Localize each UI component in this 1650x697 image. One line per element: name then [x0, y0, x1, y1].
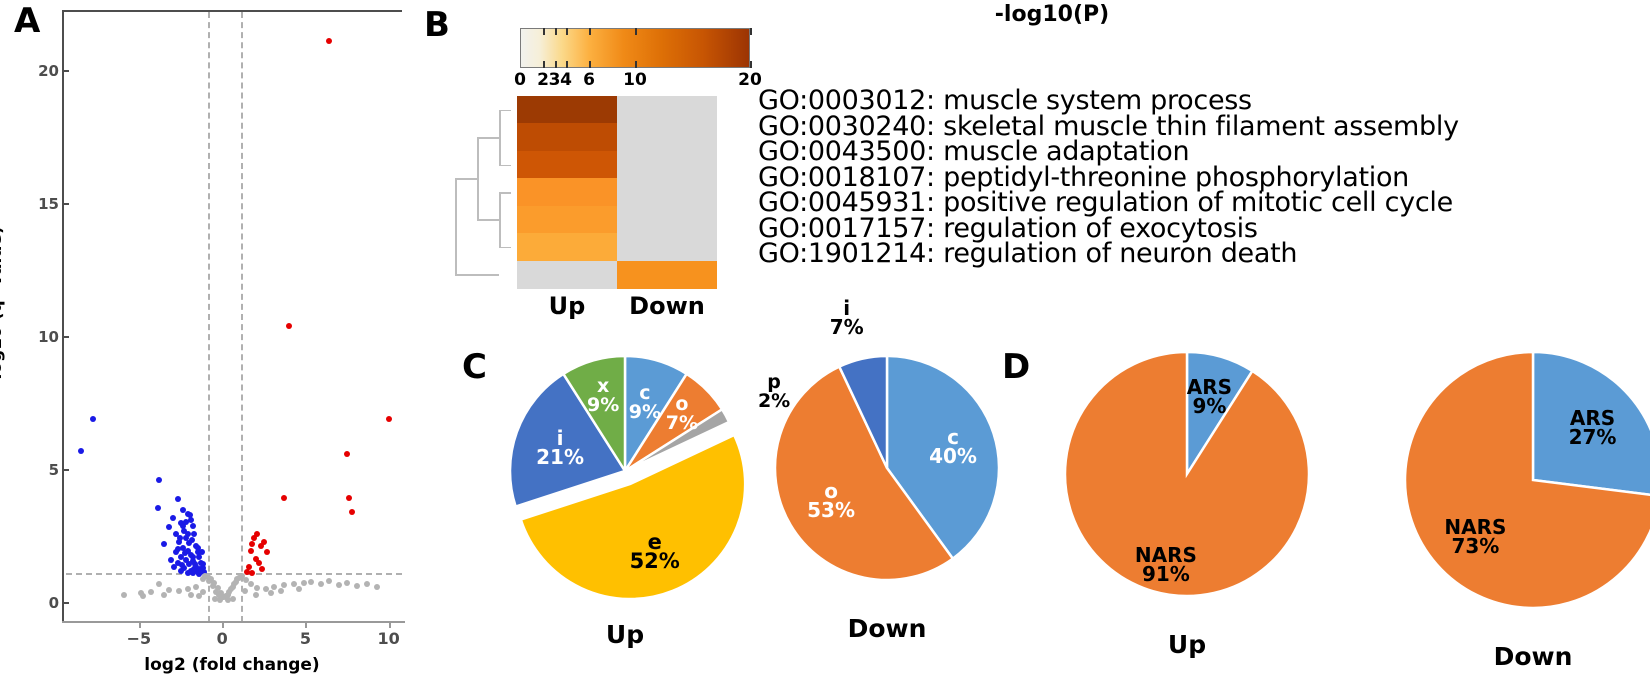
- heatmap-cell: [517, 123, 617, 151]
- volcano-point: [200, 589, 206, 595]
- volcano-point: [251, 535, 257, 541]
- volcano-point: [253, 592, 259, 598]
- volcano-point: [364, 581, 370, 587]
- dendrogram-branch: [477, 137, 479, 219]
- heatmap-cell: [617, 123, 717, 151]
- heatmap-cell: [617, 151, 717, 179]
- colorbar-tick-mark: [555, 61, 557, 68]
- colorbar-tick-label: 0: [514, 70, 526, 90]
- go-term-list: GO:0003012: muscle system processGO:0030…: [758, 88, 1648, 267]
- panel-a-letter: A: [14, 4, 40, 38]
- heatmap-cell: [517, 206, 617, 234]
- volcano-y-tick-label: 5: [49, 461, 59, 479]
- heatmap-cell: [517, 233, 617, 261]
- colorbar-tick-mark: [635, 28, 637, 35]
- dendrogram-branch: [477, 137, 499, 139]
- colorbar-tick-mark: [543, 28, 545, 35]
- volcano-point: [189, 537, 195, 543]
- pie-caption: Down: [848, 614, 927, 643]
- pie-label: ARS27%: [1569, 409, 1617, 447]
- volcano-fc-threshold-line: [241, 12, 243, 622]
- volcano-y-tick-mark: [64, 602, 69, 604]
- volcano-point: [226, 589, 232, 595]
- panel-b-letter: B: [424, 8, 450, 42]
- volcano-x-tick-mark: [389, 621, 391, 628]
- volcano-x-tick-mark: [305, 621, 307, 628]
- volcano-y-tick-label: 20: [38, 62, 59, 80]
- volcano-point: [217, 597, 223, 603]
- pie-slice-percent: 9%: [587, 394, 619, 416]
- pie-caption: Up: [1168, 630, 1206, 659]
- pie-label: c40%: [929, 428, 977, 466]
- pie-svg: [1375, 348, 1650, 624]
- volcano-point: [249, 570, 255, 576]
- volcano-point: [286, 323, 292, 329]
- volcano-y-tick-label: 0: [49, 594, 59, 612]
- volcano-y-tick-mark: [64, 203, 69, 205]
- volcano-x-tick-label: −5: [127, 629, 152, 648]
- colorbar-title: -log10(P): [995, 2, 1109, 27]
- volcano-point: [166, 587, 172, 593]
- volcano-point: [301, 580, 307, 586]
- heatmap-cell: [617, 178, 717, 206]
- colorbar-tick-mark: [543, 61, 545, 68]
- volcano-point: [200, 576, 206, 582]
- colorbar-tick-mark: [750, 28, 752, 35]
- pie-label: i21%: [536, 429, 584, 467]
- volcano-point: [256, 560, 262, 566]
- volcano-point: [199, 549, 205, 555]
- volcano-point: [225, 597, 231, 603]
- volcano-x-tick-label: 5: [300, 629, 311, 648]
- volcano-point: [349, 509, 355, 515]
- colorbar-tick-mark: [589, 61, 591, 68]
- pie-slice-percent: 91%: [1142, 562, 1190, 586]
- volcano-point: [258, 543, 264, 549]
- volcano-x-tick-label: 0: [217, 629, 228, 648]
- dendrogram-branch: [455, 178, 477, 180]
- volcano-point: [248, 548, 254, 554]
- volcano-point: [188, 592, 194, 598]
- volcano-x-axis-label: log2 (fold change): [144, 655, 319, 675]
- dendrogram-branch: [499, 192, 511, 194]
- pie-label: NARS73%: [1444, 518, 1506, 556]
- volcano-point: [166, 524, 172, 530]
- volcano-point: [278, 588, 284, 594]
- pie-slice-percent: 40%: [929, 444, 977, 468]
- heatmap-cell: [617, 96, 717, 124]
- volcano-point: [190, 523, 196, 529]
- volcano-plot-frame: 05101520: [62, 10, 402, 622]
- dendrogram-branch: [499, 192, 501, 247]
- pie-slice-percent: 7%: [830, 315, 864, 339]
- volcano-x-tick-mark: [222, 621, 224, 628]
- pie-label: c9%: [629, 384, 661, 422]
- pie-label: ARS9%: [1187, 378, 1232, 416]
- heatmap-cell: [617, 206, 717, 234]
- volcano-point: [190, 570, 196, 576]
- volcano-x-tick-label: 10: [378, 629, 400, 648]
- volcano-point: [156, 477, 162, 483]
- go-term-label: GO:1901214: regulation of neuron death: [758, 241, 1648, 267]
- volcano-point: [175, 496, 181, 502]
- volcano-point: [281, 495, 287, 501]
- volcano-y-tick-mark: [64, 336, 69, 338]
- volcano-point: [90, 416, 96, 422]
- volcano-point: [249, 541, 255, 547]
- colorbar-tick-label: 4: [560, 70, 572, 90]
- volcano-point: [344, 580, 350, 586]
- colorbar-tick-label: 6: [583, 70, 595, 90]
- dendrogram-branch: [499, 110, 511, 112]
- volcano-point: [248, 581, 254, 587]
- colorbar-tick-label: 3: [549, 70, 561, 90]
- colorbar-tick-mark: [566, 61, 568, 68]
- volcano-point: [230, 596, 236, 602]
- pie-slice-percent: 73%: [1451, 534, 1499, 558]
- volcano-point: [326, 578, 332, 584]
- heatmap-cell: [517, 261, 617, 289]
- volcano-y-axis-label: −log10 (q−value): [0, 226, 6, 393]
- heatmap-cell: [517, 151, 617, 179]
- colorbar-tick-mark: [566, 28, 568, 35]
- heatmap-cell: [617, 261, 717, 289]
- volcano-point: [242, 588, 248, 594]
- volcano-point: [121, 592, 127, 598]
- dendrogram-branch: [499, 247, 511, 249]
- pie-label: o53%: [807, 482, 855, 520]
- volcano-point: [156, 581, 162, 587]
- volcano-x-axis-line: −50510: [62, 621, 405, 623]
- colorbar-tick-label: 10: [623, 70, 647, 90]
- volcano-point: [346, 495, 352, 501]
- go-term-label: GO:0045931: positive regulation of mitot…: [758, 190, 1648, 216]
- colorbar-tick-mark: [635, 61, 637, 68]
- volcano-point: [259, 566, 265, 572]
- volcano-point: [148, 589, 154, 595]
- volcano-y-tick-mark: [64, 70, 69, 72]
- pie-svg: [745, 352, 1029, 596]
- volcano-point: [268, 590, 274, 596]
- pie-slice-percent: 21%: [536, 445, 584, 469]
- volcano-point: [185, 531, 191, 537]
- volcano-point: [140, 593, 146, 599]
- volcano-point: [308, 579, 314, 585]
- volcano-point: [161, 541, 167, 547]
- figure-root: A 05101520 −50510 −log10 (q−value) log2 …: [0, 0, 1650, 697]
- colorbar-tick-mark: [750, 61, 752, 68]
- volcano-point: [354, 583, 360, 589]
- heatmap-cell: [517, 178, 617, 206]
- volcano-point: [386, 416, 392, 422]
- heatmap-grid: [517, 96, 717, 288]
- pie-caption: Down: [1494, 642, 1573, 671]
- dendrogram-branch: [499, 165, 511, 167]
- dendrogram-branch: [455, 274, 499, 276]
- pie-label: x9%: [587, 377, 619, 415]
- heatmap-cell: [517, 96, 617, 124]
- volcano-point: [374, 584, 380, 590]
- volcano-point: [176, 588, 182, 594]
- volcano-y-tick-mark: [64, 469, 69, 471]
- heatmap-cell: [617, 233, 717, 261]
- pie-c-down: c40%o53%i7%Down: [745, 352, 1029, 656]
- volcano-point: [271, 584, 277, 590]
- volcano-point: [318, 581, 324, 587]
- volcano-point: [296, 586, 302, 592]
- volcano-q-threshold-line: [66, 573, 402, 575]
- heatmap-column-down: Down: [629, 292, 705, 320]
- volcano-point: [78, 448, 84, 454]
- volcano-point: [336, 582, 342, 588]
- pie-caption: Up: [606, 620, 644, 649]
- pie-slice-percent: 53%: [807, 498, 855, 522]
- pie-slice-percent: 9%: [1192, 394, 1226, 418]
- volcano-point: [264, 549, 270, 555]
- volcano-point: [183, 519, 189, 525]
- dendrogram-branch: [455, 178, 457, 274]
- volcano-point: [193, 584, 199, 590]
- volcano-y-tick-label: 10: [38, 328, 59, 346]
- volcano-point: [171, 564, 177, 570]
- pie-slice-percent: 9%: [629, 401, 661, 423]
- volcano-point: [161, 592, 167, 598]
- dendrogram-branch: [499, 110, 501, 165]
- colorbar-tick-mark: [589, 28, 591, 35]
- go-term-label: GO:0043500: muscle adaptation: [758, 139, 1648, 165]
- volcano-fc-threshold-line: [208, 12, 210, 622]
- panel-a-volcano: A 05101520 −50510 −log10 (q−value) log2 …: [0, 0, 420, 697]
- heatmap-column-up: Up: [549, 292, 586, 320]
- pie-d-up: ARS9%NARS91%Up: [1035, 348, 1339, 672]
- volcano-plot-area: [66, 12, 402, 622]
- panel-d-letter: D: [1002, 350, 1030, 384]
- pie-slice-percent: 27%: [1569, 425, 1617, 449]
- panel-b-heatmap: B -log10(P) 023461020 Up Down GO:0003012…: [420, 0, 1650, 320]
- colorbar-tick-mark: [555, 28, 557, 35]
- pie-label: i7%: [830, 299, 864, 337]
- pie-c-up: c9%o7%p2%e52%i21%x9%Up: [480, 352, 770, 662]
- pie-label: NARS91%: [1135, 546, 1197, 584]
- colorbar-tick-label: 2: [537, 70, 549, 90]
- volcano-point: [344, 451, 350, 457]
- pie-label: e52%: [630, 533, 680, 571]
- volcano-x-tick-mark: [139, 621, 141, 628]
- pie-slice-percent: 52%: [630, 549, 680, 573]
- volcano-point: [177, 535, 183, 541]
- volcano-point: [155, 505, 161, 511]
- pie-d-down: ARS27%NARS73%Down: [1375, 348, 1650, 684]
- volcano-point: [187, 512, 193, 518]
- pie-slice-percent: 7%: [666, 412, 698, 434]
- volcano-point: [170, 515, 176, 521]
- volcano-point: [168, 557, 174, 563]
- dendrogram-branch: [477, 219, 499, 221]
- volcano-point: [254, 585, 260, 591]
- pie-svg: [480, 352, 770, 602]
- pie-label: o7%: [666, 395, 698, 433]
- go-term-label: GO:0003012: muscle system process: [758, 88, 1648, 114]
- volcano-point: [191, 531, 197, 537]
- volcano-point: [326, 38, 332, 44]
- volcano-y-tick-label: 15: [38, 195, 59, 213]
